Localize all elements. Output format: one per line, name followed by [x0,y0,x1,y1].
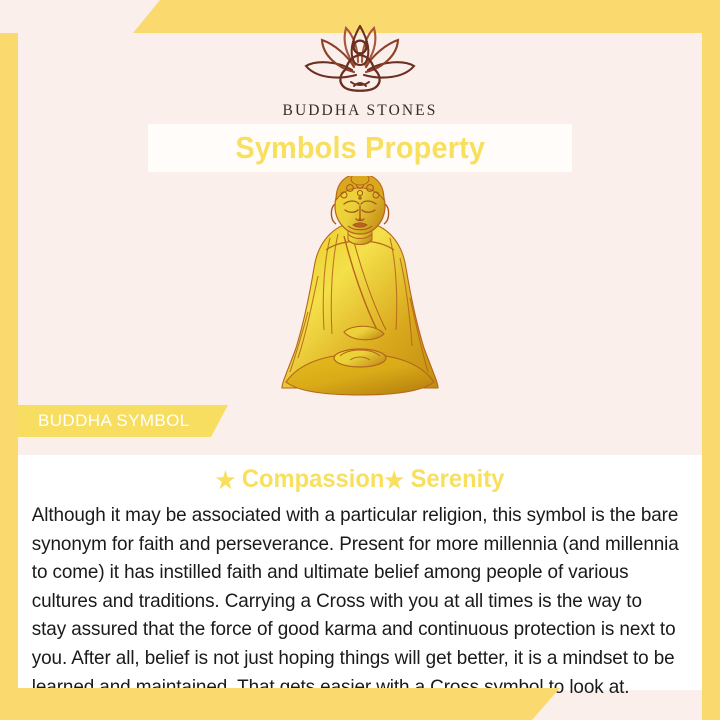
decorative-bottom-band [0,688,560,720]
star-icon-2: ★ [384,467,404,493]
star-icon-1: ★ [216,467,236,493]
description-panel: ★ Compassion★ Serenity Although it may b… [18,455,702,690]
description-paragraph: Although it may be associated with a par… [18,494,692,702]
hero-image [0,176,720,408]
trait-serenity: Serenity [411,465,505,493]
page-title: Symbols Property [235,130,485,166]
brand-wordmark: BUDDHA STONES [283,102,438,120]
lotus-meditation-icon [294,20,426,98]
trait-compassion: Compassion [242,465,385,493]
brand-logo: BUDDHA STONES [0,20,720,120]
decorative-left-strip [0,33,18,720]
seated-golden-buddha-statue-icon [252,176,468,408]
buddha-symbol-ribbon: BUDDHA SYMBOL [18,405,228,437]
ribbon-label: BUDDHA SYMBOL [18,411,190,431]
traits-heading: ★ Compassion★ Serenity [35,455,685,494]
infographic-card: BUDDHA STONES Symbols Property [0,0,720,720]
title-banner: Symbols Property [148,124,572,172]
